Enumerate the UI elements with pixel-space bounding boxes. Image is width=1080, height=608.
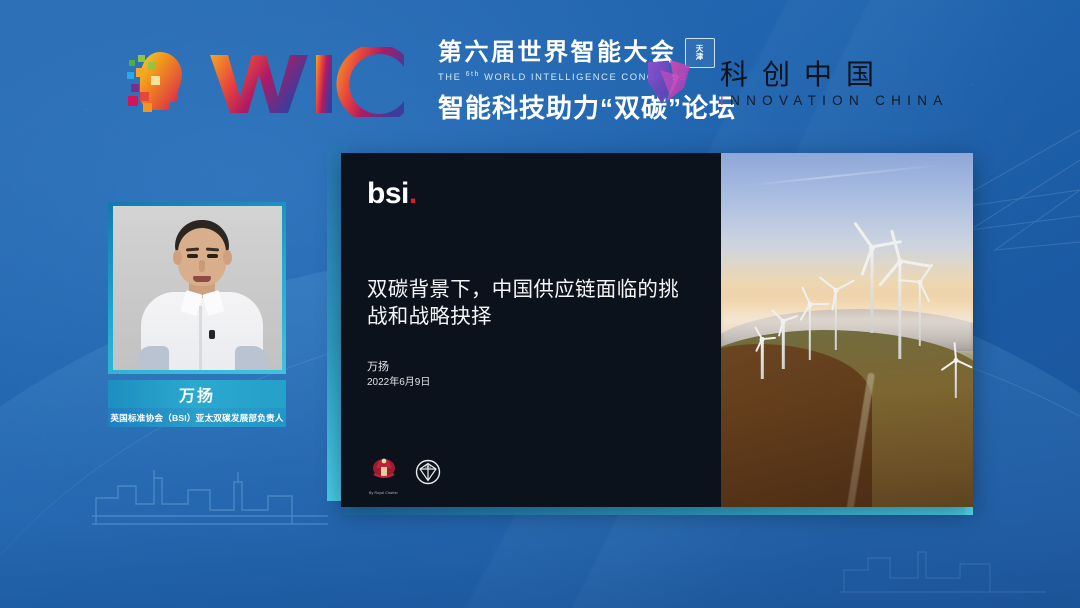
- speaker-title-plate: 英国标准协会（BSI）亚太双碳发展部负责人: [108, 408, 286, 427]
- slide-author: 万扬: [367, 360, 695, 376]
- slide-date: 2022年6月9日: [367, 376, 695, 391]
- speaker-video-feed: [113, 206, 282, 370]
- wind-turbine: [943, 358, 969, 398]
- wind-turbine-farm-photo: [721, 153, 973, 507]
- bsi-logo-text: bsi: [367, 177, 409, 210]
- innovation-china-text: 科创中国 INNOVATION CHINA: [720, 60, 949, 108]
- event-header: 第六届世界智能大会 天 津 THE 6th WORLD INTELLIGENCE…: [0, 0, 1080, 150]
- innovation-china-en: INNOVATION CHINA: [720, 93, 949, 108]
- slide-text-panel: bsi. 双碳背景下，中国供应链面临的挑战和战略抉择 万扬 2022年6月9日: [341, 153, 721, 507]
- speaker-name: 万扬: [179, 382, 215, 406]
- wind-turbine: [905, 280, 935, 346]
- wic-wordmark: [208, 47, 418, 117]
- speaker-photo-frame: [108, 202, 286, 374]
- wind-turbine: [751, 337, 773, 379]
- wind-turbine: [797, 302, 823, 360]
- innovation-china-butterfly-icon: [640, 52, 702, 114]
- en-title-ordinal-suffix: th: [471, 71, 480, 78]
- en-title-pre: THE: [438, 71, 466, 82]
- background-skyline-right: [840, 540, 1050, 594]
- wic-pixel-head-icon: [126, 46, 192, 118]
- royal-charter-crest-icon: [369, 454, 399, 484]
- innovation-china-logo-block: 科创中国 INNOVATION CHINA: [640, 52, 949, 114]
- bsi-logo-dot: .: [409, 177, 417, 210]
- bsi-kitemark-icon: bsi: [415, 459, 441, 485]
- speaker-title: 英国标准协会（BSI）亚太双碳发展部负责人: [110, 412, 283, 424]
- innovation-china-en-accent: I: [720, 93, 730, 108]
- wind-turbine: [771, 319, 795, 369]
- presentation-slide[interactable]: bsi. 双碳背景下，中国供应链面临的挑战和战略抉择 万扬 2022年6月9日: [341, 153, 973, 507]
- presentation-slide-frame: bsi. 双碳背景下，中国供应链面临的挑战和战略抉择 万扬 2022年6月9日: [327, 145, 973, 515]
- slide-footer-logos: By Royal Charter bsi: [369, 454, 441, 489]
- broadcast-stage: 第六届世界智能大会 天 津 THE 6th WORLD INTELLIGENCE…: [0, 0, 1080, 608]
- bsi-logo: bsi.: [367, 179, 695, 209]
- speaker-name-plate: 万扬: [108, 380, 286, 408]
- svg-text:bsi: bsi: [425, 464, 430, 469]
- royal-charter-caption: By Royal Charter: [369, 491, 398, 495]
- speaker-card: 万扬 英国标准协会（BSI）亚太双碳发展部负责人: [108, 202, 286, 427]
- slide-byline: 万扬 2022年6月9日: [367, 360, 695, 390]
- slide-title: 双碳背景下，中国供应链面临的挑战和战略抉择: [367, 277, 695, 332]
- bottom-vignette: [0, 518, 1080, 608]
- innovation-china-en-rest: NNOVATION CHINA: [730, 93, 949, 108]
- background-skyline-left: [92, 464, 332, 526]
- innovation-china-cn: 科创中国: [720, 60, 949, 91]
- wind-turbine: [822, 288, 850, 350]
- lapel-microphone-icon: [209, 330, 215, 339]
